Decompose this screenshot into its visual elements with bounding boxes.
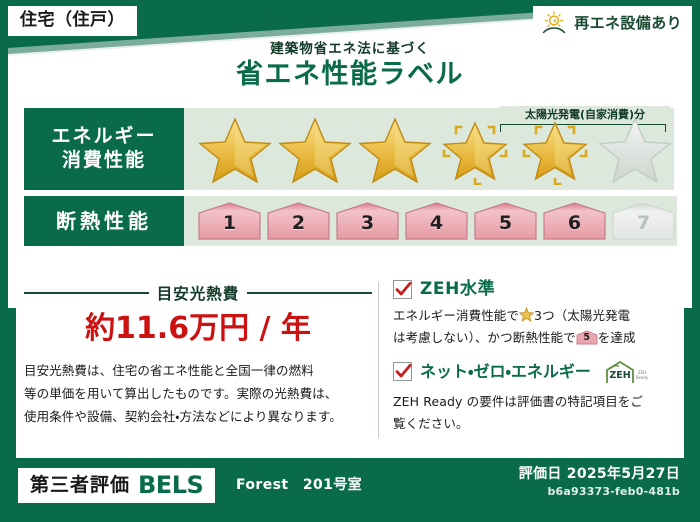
label-title-block: 建築物省エネ法に基づく 省エネ性能ラベル — [0, 42, 700, 91]
label-footer: 第三者評価 BELS Forest 201号室 評価日 2025年5月27日 b… — [8, 458, 692, 514]
zeh-netzero-description: ZEH Ready の要件は評価書の特記項目をご 覧ください。 — [393, 391, 664, 435]
insulation-badge-6: 6 — [541, 201, 608, 241]
zeh-netzero-desc-line2: 覧ください。 — [393, 416, 469, 431]
zeh-netzero-header: ネット・ゼロ・エネルギー ZEH ZEH Ready — [393, 359, 664, 385]
insulation-performance-row: 断熱性能 — [24, 196, 660, 246]
svg-text:Ready: Ready — [636, 375, 649, 380]
inline-badge-number: 5 — [576, 333, 598, 343]
insulation-badge-7: 7 — [610, 201, 677, 241]
zeh-netzero-desc-line1: ZEH Ready の要件は評価書の特記項目をご — [393, 394, 643, 409]
zeh-netzero-checkbox — [393, 362, 412, 381]
insulation-badge-7-number: 7 — [610, 214, 677, 233]
zeh-netzero-block: ネット・ゼロ・エネルギー ZEH ZEH Ready ZEH Ready の要件… — [393, 359, 664, 435]
energy-performance-row: エネルギー 消費性能 太陽光発電(自家消費)分 — [24, 108, 660, 190]
insulation-label-text: 断熱性能 — [56, 209, 152, 234]
insulation-performance-label: 断熱性能 — [24, 196, 184, 246]
zeh-standard-block: ZEH水準 エネルギー消費性能で3つ（太陽光発電は考慮しない）、かつ断熱性能で5… — [393, 280, 664, 349]
page-title: 省エネ性能ラベル — [0, 59, 700, 91]
column-divider — [378, 282, 379, 438]
star-4-filled-solar — [436, 113, 514, 185]
utility-cost-value: 約11.6万円 / 年 — [24, 312, 372, 345]
utility-cost-note-line2: 等の単価を用いて算出したものです。実際の光熱費は、 — [24, 382, 372, 405]
renewable-equipment-chip: 再エネ設備あり — [533, 6, 692, 40]
zeh-ready-logo: ZEH ZEH Ready — [603, 359, 651, 385]
insulation-badge-2-number: 2 — [265, 214, 332, 233]
zeh-desc-star-count: 3つ（太陽光発電 — [534, 308, 630, 323]
insulation-level-scale: 1 2 3 4 — [184, 196, 677, 246]
zeh-netzero-title: ネット・ゼロ・エネルギー — [420, 364, 591, 380]
insulation-badge-5: 5 — [472, 201, 539, 241]
energy-label-line2: 消費性能 — [62, 149, 146, 173]
zeh-standard-title: ZEH水準 — [420, 281, 495, 298]
star-3-filled — [356, 113, 434, 185]
evaluation-date: 評価日 2025年5月27日 — [519, 466, 680, 483]
insulation-badge-6-number: 6 — [541, 214, 608, 233]
energy-performance-label: エネルギー 消費性能 — [24, 108, 184, 190]
sun-solar-icon — [541, 11, 567, 35]
star-6-empty — [596, 113, 674, 185]
bels-third-party-label: 第三者評価 — [30, 476, 130, 495]
lower-content: 目安光熱費 約11.6万円 / 年 目安光熱費は、住宅の省エネ性能と全国一律の燃… — [24, 278, 664, 448]
evaluation-meta: 評価日 2025年5月27日 b6a93373-feb0-481b — [519, 466, 680, 497]
star-list — [184, 113, 674, 185]
zeh-desc-part1: エネルギー消費性能で — [393, 308, 519, 323]
utility-cost-heading: 目安光熱費 — [24, 282, 372, 304]
utility-cost-note-line3: 使用条件や設備、契約会社・方法などにより異なります。 — [24, 405, 372, 428]
insulation-badge-1: 1 — [196, 201, 263, 241]
utility-cost-section: 目安光熱費 約11.6万円 / 年 目安光熱費は、住宅の省エネ性能と全国一律の燃… — [24, 278, 372, 448]
energy-performance-label: 住宅（住戸） 再エネ設備あり 建築物省エネ法に基づく — [0, 0, 700, 522]
renewable-chip-label: 再エネ設備あり — [574, 16, 682, 31]
utility-cost-note-line1: 目安光熱費は、住宅の省エネ性能と全国一律の燃料 — [24, 359, 372, 382]
evaluation-id: b6a93373-feb0-481b — [519, 486, 680, 497]
svg-text:ZEH: ZEH — [609, 370, 630, 381]
utility-cost-note: 目安光熱費は、住宅の省エネ性能と全国一律の燃料 等の単価を用いて算出したものです… — [24, 359, 372, 428]
insulation-badge-4: 4 — [403, 201, 470, 241]
energy-label-line1: エネルギー — [51, 125, 156, 149]
bels-certification-mark: 第三者評価 BELS — [18, 468, 215, 503]
zeh-desc-part2: は考慮しない）、かつ断熱性能で — [393, 330, 576, 345]
insulation-badge-3-number: 3 — [334, 214, 401, 233]
zeh-standard-header: ZEH水準 — [393, 280, 664, 299]
insulation-badge-3: 3 — [334, 201, 401, 241]
title-subtitle: 建築物省エネ法に基づく — [0, 42, 700, 57]
building-unit-name: Forest 201号室 — [236, 478, 362, 492]
insulation-badge-4-number: 4 — [403, 214, 470, 233]
insulation-badge-1-number: 1 — [196, 214, 263, 233]
heading-rule-right — [247, 292, 372, 294]
insulation-badge-5-number: 5 — [472, 214, 539, 233]
bels-logo-text: BELS — [138, 473, 203, 497]
insulation-badge-list: 1 2 3 4 — [184, 201, 677, 241]
star-5-filled-solar — [516, 113, 594, 185]
energy-star-rating: 太陽光発電(自家消費)分 — [184, 108, 674, 190]
zeh-standard-checkbox — [393, 280, 412, 299]
zeh-standard-description: エネルギー消費性能で3つ（太陽光発電は考慮しない）、かつ断熱性能で5を達成 — [393, 305, 664, 349]
inline-insulation-badge: 5 — [576, 330, 598, 345]
star-1-filled — [196, 113, 274, 185]
insulation-badge-2: 2 — [265, 201, 332, 241]
housing-type-chip: 住宅（住戸） — [8, 6, 137, 36]
zeh-section: ZEH水準 エネルギー消費性能で3つ（太陽光発電は考慮しない）、かつ断熱性能で5… — [393, 278, 664, 448]
inline-star-icon — [519, 307, 534, 322]
utility-cost-heading-text: 目安光熱費 — [157, 282, 240, 304]
heading-rule-left — [24, 292, 149, 294]
zeh-desc-part3: を達成 — [598, 330, 636, 345]
star-2-filled — [276, 113, 354, 185]
performance-section: エネルギー 消費性能 太陽光発電(自家消費)分 — [24, 108, 660, 252]
